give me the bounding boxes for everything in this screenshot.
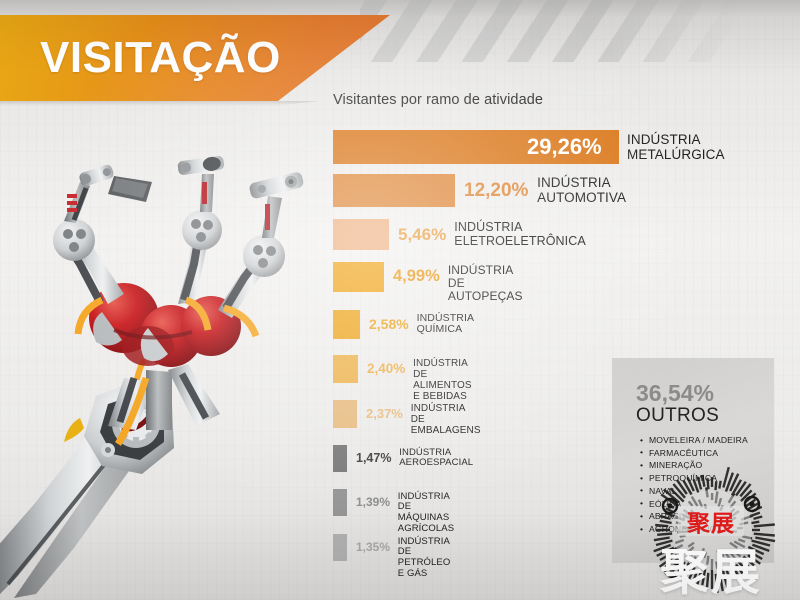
outros-label: OUTROS <box>636 406 719 425</box>
outros-list-item: NAVAL <box>640 485 748 498</box>
bar-category-label: INDÚSTRIA DE ALIMENTOS E BEBIDAS <box>413 358 472 403</box>
bar-value-label: 2,40% <box>367 362 405 376</box>
bar-category-label: INDÚSTRIA DE MÁQUINAS AGRÍCOLAS <box>398 492 454 535</box>
bar-fill <box>333 445 347 472</box>
outros-list-item: MOVELEIRA / MADEIRA <box>640 434 748 447</box>
bar-category-label: INDÚSTRIA QUÍMICA <box>417 313 475 337</box>
bar-value-label: 1,39% <box>356 496 390 508</box>
robot-arm-illustration <box>0 78 326 598</box>
bar-value-label: 2,58% <box>369 317 409 331</box>
bar-fill <box>333 534 347 561</box>
page-title: VISITAÇÃO <box>40 36 281 80</box>
outros-item-list: MOVELEIRA / MADEIRAFARMACÊUTICAMINERAÇÃO… <box>640 434 748 536</box>
bar-fill <box>333 489 347 516</box>
bar-category-label: INDÚSTRIA DE EMBALAGENS <box>411 403 481 437</box>
bar-category-label: INDÚSTRIA ELETROELETRÔNICA <box>454 220 586 248</box>
outros-list-item: AGRONEGÓCIO <box>640 523 748 536</box>
bar-fill <box>333 174 455 207</box>
bar-category-label: INDÚSTRIA AUTOMOTIVA <box>537 175 626 205</box>
top-shade-strip <box>0 0 800 16</box>
bar-category-label: INDÚSTRIA DE PETRÓLEO E GÁS <box>398 537 451 580</box>
outros-list-item: ABRASIVOS <box>640 510 748 523</box>
bar-fill <box>333 262 384 292</box>
bar-category-label: INDÚSTRIA METALÚRGICA <box>627 132 725 162</box>
outros-percent: 36,54% <box>636 382 714 405</box>
bar-value-label: 12,20% <box>464 181 528 200</box>
bar-category-label: INDÚSTRIA DE AUTOPEÇAS <box>448 264 523 304</box>
outros-list-item: EÓLICA <box>640 498 748 511</box>
bar-value-label: 5,46% <box>398 226 446 243</box>
outros-panel: 36,54% OUTROS MOVELEIRA / MADEIRAFARMACÊ… <box>612 358 774 563</box>
bar-fill <box>333 355 358 383</box>
bar-value-label: 1,47% <box>356 452 391 465</box>
infographic-slide: VISITAÇÃO <box>0 0 800 600</box>
outros-list-item: MINERAÇÃO <box>640 459 748 472</box>
outros-list-item: PETROQUÍMICA <box>640 472 748 485</box>
outros-list-item: FARMACÊUTICA <box>640 447 748 460</box>
bar-value-label: 29,26% <box>527 136 602 158</box>
bar-value-label: 1,35% <box>356 541 390 553</box>
bar-value-label: 2,37% <box>366 407 403 420</box>
bar-value-label: 4,99% <box>393 268 440 285</box>
bar-category-label: INDÚSTRIA AEROESPACIAL <box>399 448 473 469</box>
bar-fill <box>333 400 357 428</box>
bar-fill <box>333 219 389 250</box>
bar-fill <box>333 310 360 339</box>
chart-title: Visitantes por ramo de atividade <box>333 92 543 108</box>
